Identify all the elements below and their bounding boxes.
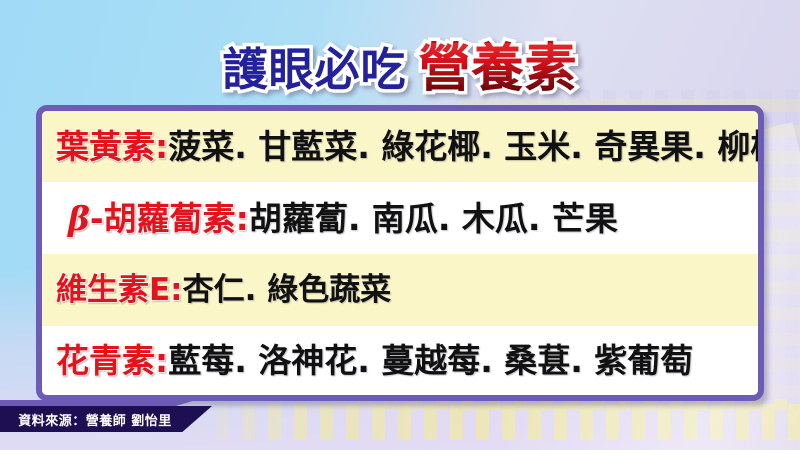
nutrient-foods: 杏仁. 綠色蔬菜	[183, 275, 392, 306]
infographic-slide: 護眼必吃 營養素 營養素 葉黃素: 菠菜. 甘藍菜. 綠花椰. 玉米. 奇異果.…	[0, 0, 800, 450]
nutrient-label-rest: -胡蘿蔔素:	[90, 199, 249, 238]
nutrient-label: 維生素E:	[56, 275, 183, 306]
source-banner: 資料來源：營養師 劉怡里	[0, 406, 212, 432]
table-row: β-胡蘿蔔素: 胡蘿蔔. 南瓜. 木瓜. 芒果	[42, 182, 758, 254]
page-title: 護眼必吃 營養素 營養素	[0, 38, 800, 100]
nutrient-foods: 菠菜. 甘藍菜. 綠花椰. 玉米. 奇異果. 柳橙	[168, 130, 758, 163]
table-row: 維生素E: 杏仁. 綠色蔬菜	[42, 254, 758, 326]
nutrient-label: β-胡蘿蔔素:	[68, 202, 249, 235]
title-red-text: 營養素 營養素	[419, 43, 578, 95]
nutrient-label: 葉黃素:	[56, 130, 168, 163]
footer-accent-bar	[0, 400, 196, 407]
table-row: 葉黃素: 菠菜. 甘藍菜. 綠花椰. 玉米. 奇異果. 柳橙	[42, 111, 758, 182]
table-row: 花青素: 藍莓. 洛神花. 蔓越莓. 桑葚. 紫葡萄	[42, 326, 758, 395]
nutrient-table-panel: 葉黃素: 菠菜. 甘藍菜. 綠花椰. 玉米. 奇異果. 柳橙 β-胡蘿蔔素: 胡…	[36, 105, 764, 401]
title-blue-text: 護眼必吃	[222, 47, 406, 92]
nutrient-foods: 胡蘿蔔. 南瓜. 木瓜. 芒果	[249, 202, 618, 235]
beta-symbol: β	[68, 199, 90, 238]
nutrient-label: 花青素:	[56, 344, 168, 377]
title-red-gradient-overlay: 營養素	[419, 43, 578, 95]
source-text: 資料來源：營養師 劉怡里	[18, 410, 172, 429]
nutrient-foods: 藍莓. 洛神花. 蔓越莓. 桑葚. 紫葡萄	[168, 344, 693, 377]
